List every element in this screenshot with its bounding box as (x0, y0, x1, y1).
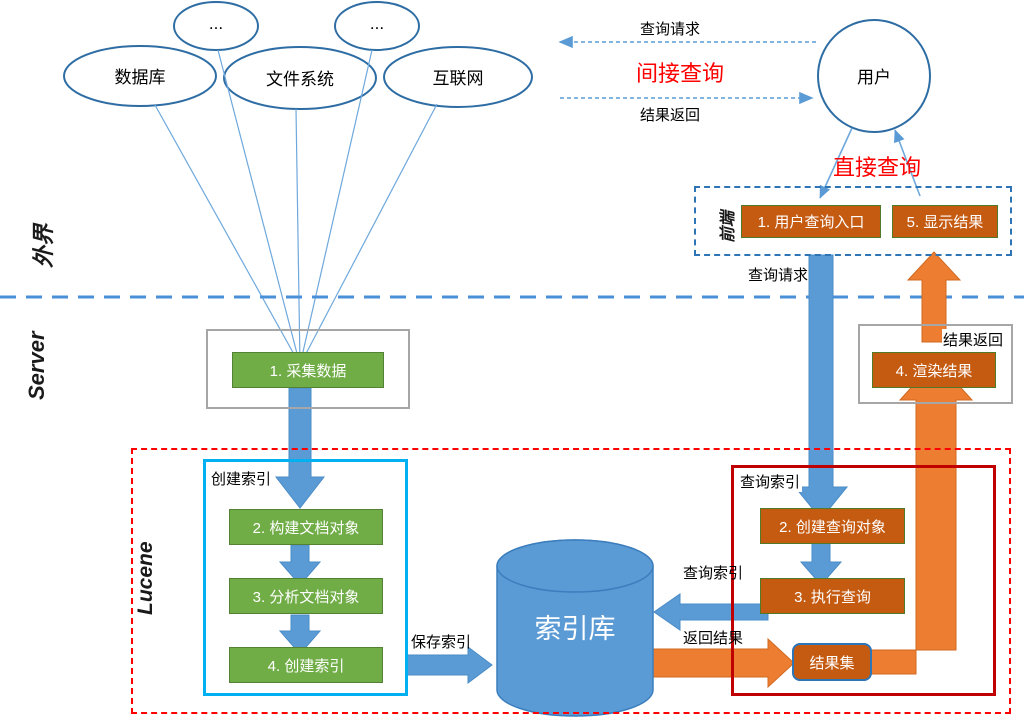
direct-query-title: 直接查询 (833, 150, 921, 182)
indirect-response-label: 结果返回 (640, 104, 700, 125)
create-index-step-create[interactable]: 4. 创建索引 (229, 647, 383, 683)
source-label-db: 数据库 (64, 63, 216, 88)
source-connector-lines (155, 50, 437, 365)
source-ellipses (64, 2, 532, 109)
query-index-result-set[interactable]: 结果集 (792, 643, 872, 681)
query-index-step-execq[interactable]: 3. 执行查询 (760, 578, 905, 614)
zone-label-outside: 外界 (26, 224, 58, 268)
create-index-title: 创建索引 (209, 468, 273, 489)
frontend-box-entry[interactable]: 1. 用户查询入口 (741, 205, 881, 238)
source-label-dots-1: ... (174, 14, 258, 34)
query-index-title: 查询索引 (738, 471, 802, 492)
create-index-step-build[interactable]: 2. 构建文档对象 (229, 509, 383, 545)
zone-label-server: Server (24, 331, 50, 400)
create-index-step-analyze[interactable]: 3. 分析文档对象 (229, 578, 383, 614)
edge-label-query-index: 查询索引 (683, 562, 743, 583)
frontend-box-show-result[interactable]: 5. 显示结果 (892, 205, 998, 238)
user-label: 用户 (818, 63, 930, 88)
frontend-label: 前端 (714, 211, 738, 243)
query-request-label: 查询请求 (748, 264, 808, 285)
indirect-query-title: 间接查询 (636, 56, 724, 88)
diagram-canvas: 数据库 ... 文件系统 ... 互联网 用户 查询请求 间接查询 结果返回 直… (0, 0, 1024, 728)
edge-label-save-index: 保存索引 (411, 631, 471, 652)
query-index-step-createq[interactable]: 2. 创建查询对象 (760, 508, 905, 544)
edge-label-return-result: 返回结果 (683, 627, 743, 648)
source-label-internet: 互联网 (384, 64, 532, 89)
source-label-dots-2: ... (335, 14, 419, 34)
render-return-label: 结果返回 (942, 329, 1004, 350)
index-store-label: 索引库 (497, 607, 653, 646)
collect-box[interactable]: 1. 采集数据 (232, 352, 384, 388)
render-box[interactable]: 4. 渲染结果 (872, 352, 996, 388)
indirect-request-label: 查询请求 (640, 18, 700, 39)
source-label-fs: 文件系统 (224, 65, 376, 90)
